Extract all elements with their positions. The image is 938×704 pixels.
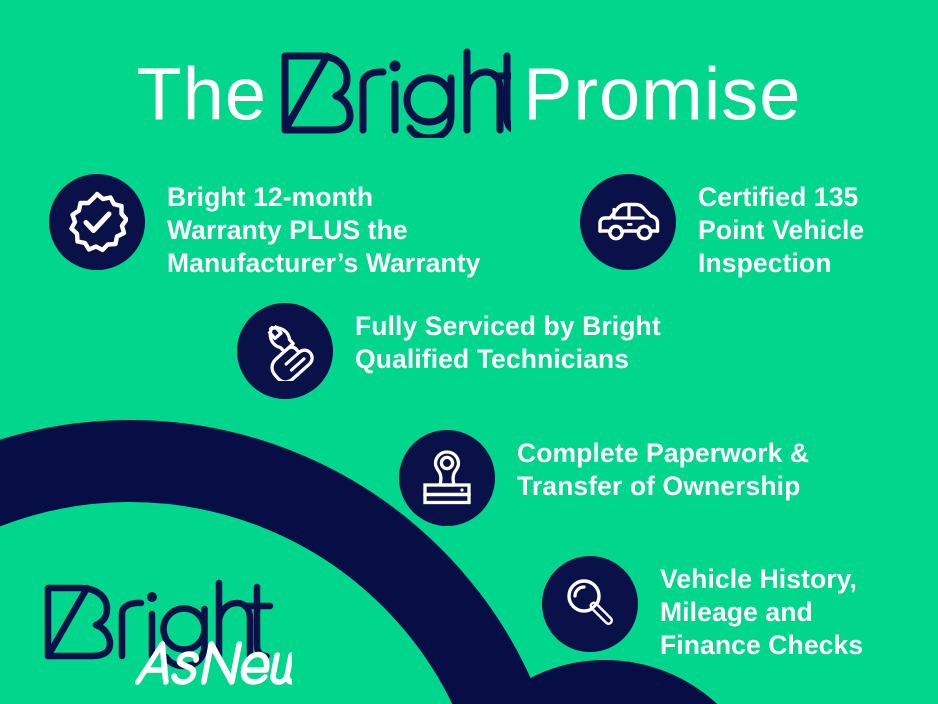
feature-label: Bright 12-month Warranty PLUS the Manufa… (167, 174, 481, 280)
logo-asnew-word (138, 644, 292, 682)
feature-item-inspection: Certified 135 Point Vehicle Inspection (580, 174, 864, 280)
bright-as-new-logo (42, 578, 292, 691)
feature-item-servicing: Fully Serviced by Bright Qualified Techn… (237, 303, 661, 399)
feature-item-paperwork: Complete Paperwork & Transfer of Ownersh… (399, 430, 809, 526)
feature-label: Certified 135 Point Vehicle Inspection (698, 174, 864, 280)
title-prefix: The (137, 53, 268, 136)
magnifier-icon (542, 556, 638, 652)
promise-infographic: The Promise (0, 0, 938, 704)
decorative-ring-small (440, 660, 770, 704)
feature-label: Vehicle History, Mileage and Finance Che… (660, 556, 863, 662)
feature-label: Fully Serviced by Bright Qualified Techn… (355, 303, 661, 376)
feature-label: Complete Paperwork & Transfer of Ownersh… (517, 430, 809, 503)
page-title: The Promise (0, 46, 938, 143)
feature-item-history-checks: Vehicle History, Mileage and Finance Che… (542, 556, 863, 662)
bright-logo (279, 46, 511, 143)
feature-item-warranty: Bright 12-month Warranty PLUS the Manufa… (49, 174, 481, 280)
car-icon (580, 174, 676, 270)
badge-check-icon (49, 174, 145, 270)
stamp-icon (399, 430, 495, 526)
hand-wrench-icon (237, 303, 333, 399)
title-suffix: Promise (523, 53, 801, 136)
